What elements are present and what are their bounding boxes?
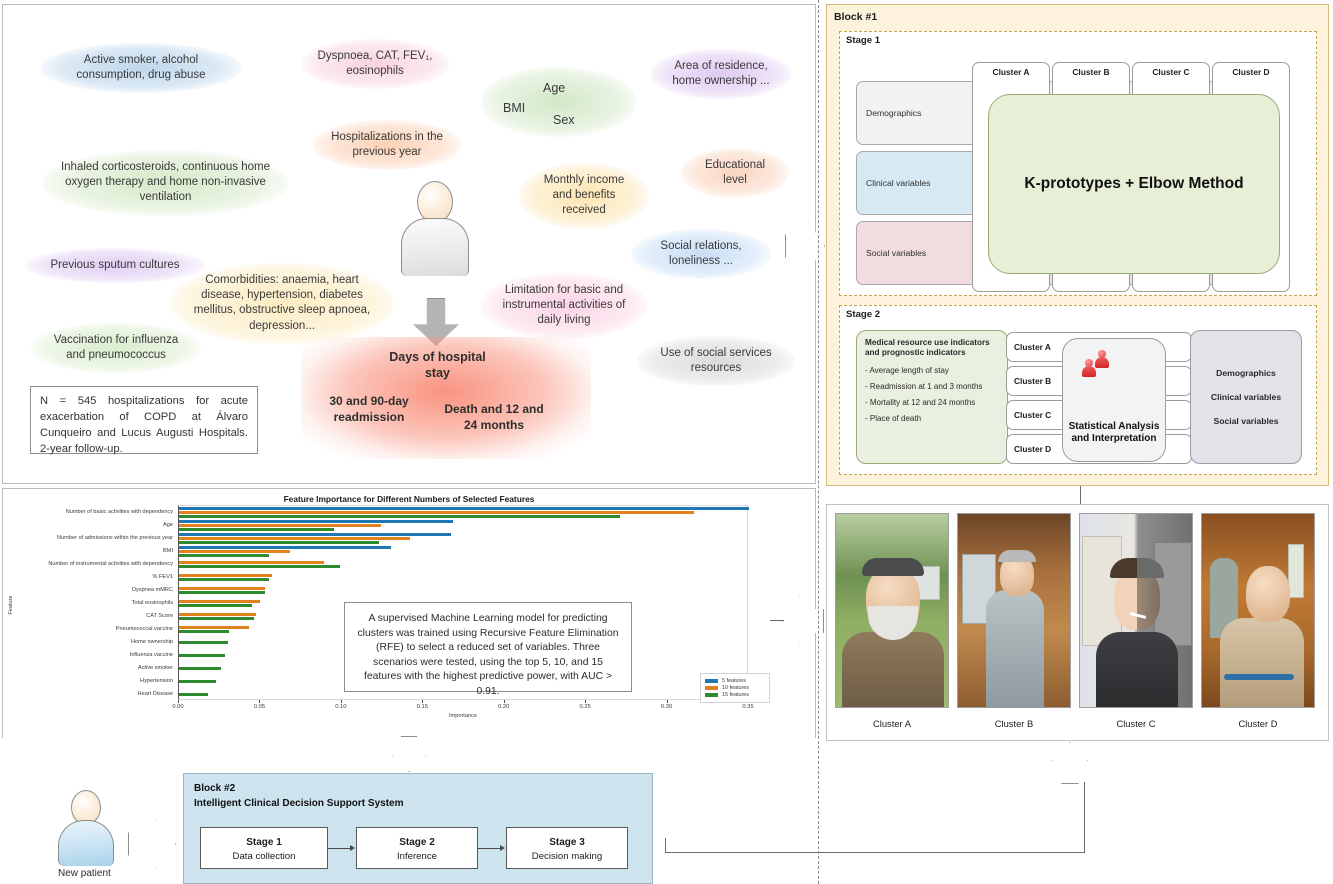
- stage-desc: Data collection: [201, 850, 327, 864]
- stage-desc: Decision making: [507, 850, 627, 864]
- cluster-label: Cluster C: [1014, 410, 1051, 420]
- bubble-sex-label: Sex: [553, 112, 575, 129]
- bubble-residence: Area of residence, home ownership ...: [651, 49, 791, 99]
- chart-x-tick-label: 0.25: [579, 704, 590, 710]
- chart-bar: [179, 565, 340, 568]
- feedback-line-horizontal: [665, 852, 1085, 853]
- chart-bar: [179, 587, 265, 590]
- panel-divider: [818, 0, 819, 884]
- cluster-c-photo: [1079, 513, 1193, 708]
- stage2-variable-groups-box: Demographics Clinical variables Social v…: [1190, 330, 1302, 464]
- bubble-sputum: Previous sputum cultures: [25, 248, 205, 283]
- chart-y-tick-label: Total eosinophils: [5, 600, 173, 606]
- clusters-gallery-panel: Cluster A Cluster B Cluster C Cluster D: [826, 504, 1329, 741]
- chart-bar: [179, 541, 379, 544]
- outcome-death: Death and 12 and 24 months: [439, 401, 549, 433]
- new-patient-label: New patient: [58, 868, 111, 879]
- group-label: Social variables: [866, 248, 926, 258]
- block2-flow-1: [328, 848, 352, 849]
- stage-name: Stage 2: [399, 837, 435, 848]
- chart-x-tick-label: 0.30: [661, 704, 672, 710]
- avatar-head: [417, 181, 453, 223]
- chart-bar: [179, 680, 216, 683]
- chart-bar: [179, 520, 453, 523]
- cluster-label: Cluster A: [1014, 342, 1051, 352]
- group-label: Clinical variables: [866, 178, 930, 188]
- chart-bar: [179, 574, 272, 577]
- cluster-label: Cluster D: [1014, 444, 1051, 454]
- avatar-body: [58, 820, 114, 866]
- bubble-therapy: Inhaled corticosteroids, continuous home…: [43, 150, 288, 216]
- legend-item: 15 features: [705, 692, 765, 698]
- legend-swatch: [705, 679, 718, 683]
- patient-avatar: [401, 181, 469, 276]
- person-body-icon: [1095, 357, 1109, 368]
- cluster-label: Cluster C: [1152, 67, 1189, 77]
- new-patient-to-block2-arrow: [128, 820, 176, 868]
- chart-bar: [179, 654, 225, 657]
- chart-bar: [179, 561, 324, 564]
- chart-y-tick-label: Number of instrumental activities with d…: [5, 561, 173, 567]
- bubble-label: Monthly income and benefits received: [544, 174, 625, 216]
- block2-stage-3: Stage 3 Decision making: [506, 827, 628, 869]
- cluster-b-photo: [957, 513, 1071, 708]
- indicators-heading: Medical resource use indicators and prog…: [865, 338, 999, 359]
- chart-x-tick: [667, 700, 668, 703]
- block2-panel: Block #2 Intelligent Clinical Decision S…: [183, 773, 653, 884]
- stage1-box: Stage 1 Demographics Clinical variables …: [839, 31, 1317, 296]
- chart-bar: [179, 693, 208, 696]
- cluster-b-caption: Cluster B: [957, 718, 1071, 729]
- gallery-to-chart-line: [770, 620, 784, 621]
- bubble-label: Inhaled corticosteroids, continuous home…: [61, 161, 270, 203]
- block2-title: Block #2: [194, 781, 403, 796]
- bubble-label: Previous sputum cultures: [50, 259, 179, 271]
- chart-bar: [179, 591, 265, 594]
- legend-label: 5 features: [722, 678, 746, 684]
- chart-y-tick-label: BMI: [5, 548, 173, 554]
- cluster-a-photo: [835, 513, 949, 708]
- chart-x-tick-label: 0.20: [498, 704, 509, 710]
- bubble-label: Dyspnoea, CAT, FEV₁, eosinophils: [318, 50, 433, 77]
- block1-title: Block #1: [834, 11, 877, 23]
- block2-stage-2: Stage 2 Inference: [356, 827, 478, 869]
- new-patient-avatar: [58, 790, 114, 866]
- outcome-readmission: 30 and 90-day readmission: [308, 393, 430, 425]
- chart-y-tick-label: % FEV1: [5, 574, 173, 580]
- cluster-label: Cluster B: [1014, 376, 1051, 386]
- legend-item: 5 features: [705, 678, 765, 684]
- cluster-d-caption: Cluster D: [1201, 718, 1315, 729]
- indicator-item: - Mortality at 12 and 24 months: [865, 398, 999, 407]
- chart-x-axis-title: Importance: [449, 713, 477, 719]
- bubble-vaccination: Vaccination for influenza and pneumococc…: [31, 323, 201, 373]
- chart-y-tick-label: Pneumococcal vaccine: [5, 626, 173, 632]
- avatar-body: [401, 218, 469, 276]
- chart-bar: [179, 515, 620, 518]
- chart-legend: 5 features 10 features 15 features: [700, 673, 770, 703]
- chart-bar: [179, 507, 749, 510]
- bubble-social-services: Use of social services resources: [637, 336, 795, 386]
- cluster-d-photo: [1201, 513, 1315, 708]
- bubble-label: Area of residence, home ownership ...: [672, 60, 769, 87]
- group-label: Demographics: [1216, 368, 1276, 378]
- chart-to-block2-arrow: [392, 736, 426, 772]
- chart-bar: [179, 528, 334, 531]
- chart-bar: [179, 533, 451, 536]
- bubble-label: Use of social services resources: [660, 347, 771, 374]
- stage2-label: Stage 2: [846, 309, 880, 320]
- indicator-item: - Place of death: [865, 414, 999, 423]
- chart-x-tick-label: 0.10: [335, 704, 346, 710]
- bubble-label: Educational level: [705, 159, 765, 186]
- chart-bar: [179, 554, 269, 557]
- legend-swatch: [705, 686, 718, 690]
- method-label: K-prototypes + Elbow Method: [1024, 175, 1243, 193]
- kprototypes-method-box: K-prototypes + Elbow Method: [988, 94, 1280, 274]
- cohort-note: N = 545 hospitalizations for acute exace…: [30, 386, 258, 454]
- bubble-respiratory: Dyspnoea, CAT, FEV₁, eosinophils: [301, 39, 449, 89]
- block2-subtitle: Intelligent Clinical Decision Support Sy…: [194, 796, 403, 811]
- chart-bar: [179, 617, 254, 620]
- chart-bar: [179, 600, 260, 603]
- stage1-label: Stage 1: [846, 35, 880, 46]
- chart-y-tick-label: Active smoker: [5, 665, 173, 671]
- stage2-indicators-box: Medical resource use indicators and prog…: [856, 330, 1008, 464]
- chart-y-tick-label: Influenza vaccine: [5, 652, 173, 658]
- cluster-a-caption: Cluster A: [835, 718, 949, 729]
- feedback-line-vertical: [665, 838, 666, 853]
- cluster-label: Cluster A: [993, 67, 1030, 77]
- chart-x-tick-label: 0.15: [417, 704, 428, 710]
- chart-x-tick: [341, 700, 342, 703]
- group-label: Social variables: [1214, 416, 1279, 426]
- bubble-education: Educational level: [681, 148, 789, 198]
- chart-bar: [179, 511, 694, 514]
- feedback-arrow-up: [1052, 742, 1088, 784]
- chart-bar: [179, 613, 256, 616]
- bubble-smoking: Active smoker, alcohol consumption, drug…: [41, 43, 241, 93]
- bubble-hospitalizations: Hospitalizations in the previous year: [313, 120, 461, 170]
- legend-label: 15 features: [722, 692, 749, 698]
- indicator-item: - Average length of stay: [865, 366, 999, 375]
- bubble-label: Limitation for basic and instrumental ac…: [503, 284, 626, 326]
- chart-bar: [179, 524, 381, 527]
- feedback-line-vertical-right: [1084, 782, 1085, 853]
- cluster-c-caption: Cluster C: [1079, 718, 1193, 729]
- chart-y-tick-label: Heart Disease: [5, 691, 173, 697]
- chart-x-tick: [504, 700, 505, 703]
- person-body-icon: [1082, 366, 1096, 377]
- bubble-label: Active smoker, alcohol consumption, drug…: [76, 54, 205, 81]
- bubble-comorbidities: Comorbidities: anaemia, heart disease, h…: [171, 263, 393, 344]
- chart-bar: [179, 626, 249, 629]
- cluster-label: Cluster D: [1232, 67, 1269, 77]
- bubble-social-relations: Social relations, loneliness ...: [631, 229, 771, 279]
- group-label: Demographics: [866, 108, 921, 118]
- stage-name: Stage 3: [549, 837, 585, 848]
- chart-x-tick-label: 0.35: [742, 704, 753, 710]
- block2-flow-arrow-2: [500, 845, 505, 851]
- chart-y-tick-label: Dyspnea mMRC: [5, 587, 173, 593]
- legend-swatch: [705, 693, 718, 697]
- bubble-label: Social relations, loneliness ...: [660, 240, 741, 267]
- chart-bar: [179, 630, 229, 633]
- bubble-label: Hospitalizations in the previous year: [331, 131, 443, 158]
- bubble-bmi-label: BMI: [503, 100, 525, 117]
- variables-panel: Active smoker, alcohol consumption, drug…: [2, 4, 816, 484]
- chart-x-tick: [585, 700, 586, 703]
- chart-annotation-box: A supervised Machine Learning model for …: [344, 602, 632, 692]
- chart-bar: [179, 537, 410, 540]
- outcome-days-of-stay: Days of hospital stay: [375, 349, 500, 382]
- chart-x-tick: [422, 700, 423, 703]
- legend-label: 10 features: [722, 685, 749, 691]
- chart-y-tick-label: Home ownership: [5, 639, 173, 645]
- chart-x-tick: [178, 700, 179, 703]
- chart-y-tick-label: Age: [5, 522, 173, 528]
- chart-x-tick: [259, 700, 260, 703]
- cluster-label: Cluster B: [1072, 67, 1109, 77]
- block2-stage-1: Stage 1 Data collection: [200, 827, 328, 869]
- chart-title: Feature Importance for Different Numbers…: [3, 494, 815, 504]
- chart-bar: [179, 604, 252, 607]
- analysis-label: Statistical Analysis and Interpretation: [1063, 421, 1165, 445]
- stage-desc: Inference: [357, 850, 477, 864]
- bubble-income: Monthly income and benefits received: [519, 163, 649, 229]
- bubble-age-label: Age: [543, 80, 565, 97]
- block2-flow-2: [478, 848, 502, 849]
- bubble-limitation: Limitation for basic and instrumental ac…: [481, 273, 647, 339]
- chart-bar: [179, 667, 221, 670]
- chart-bar: [179, 641, 228, 644]
- chart-y-tick-label: Hypertension: [5, 678, 173, 684]
- bubble-label: Vaccination for influenza and pneumococc…: [54, 334, 178, 361]
- indicator-item: - Readmission at 1 and 3 months: [865, 382, 999, 391]
- chart-y-tick-label: CAT Score: [5, 613, 173, 619]
- bubble-demographics-cloud: Age BMI Sex: [481, 67, 636, 137]
- chart-y-tick-label: Number of basic activities with dependen…: [5, 509, 173, 515]
- legend-item: 10 features: [705, 685, 765, 691]
- chart-x-tick-label: 0.00: [172, 704, 183, 710]
- chart-bar: [179, 550, 290, 553]
- stage-name: Stage 1: [246, 837, 282, 848]
- group-label: Clinical variables: [1211, 392, 1281, 402]
- people-icon: [1084, 350, 1124, 378]
- chart-bar: [179, 546, 391, 549]
- chart-y-tick-label: Number of admissions within the previous…: [5, 535, 173, 541]
- block2-flow-arrow-1: [350, 845, 355, 851]
- stage2-box: Stage 2 Medical resource use indicators …: [839, 305, 1317, 475]
- block2-title-group: Block #2 Intelligent Clinical Decision S…: [194, 781, 403, 811]
- chart-bar: [179, 578, 269, 581]
- block1-panel: Block #1 Stage 1 Demographics Clinical v…: [826, 4, 1329, 486]
- bubble-label: Comorbidities: anaemia, heart disease, h…: [194, 274, 370, 332]
- chart-x-tick-label: 0.05: [254, 704, 265, 710]
